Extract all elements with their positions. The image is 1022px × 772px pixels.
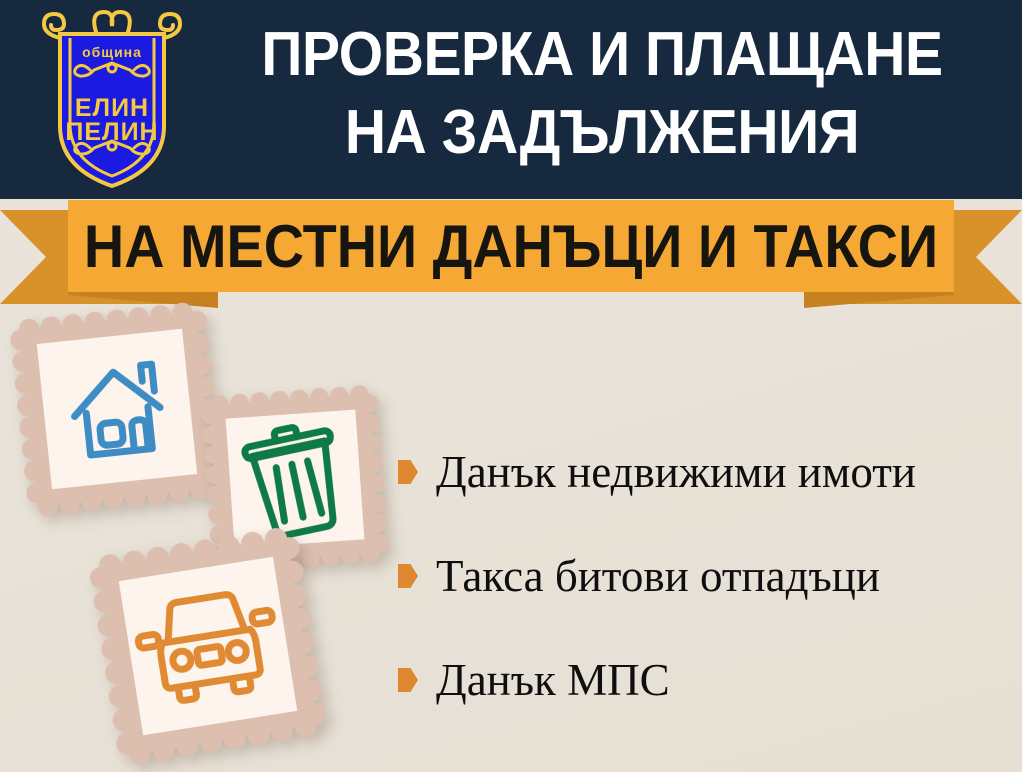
list-item-label: Данък МПС bbox=[436, 658, 670, 703]
page-title-line-1: ПРОВЕРКА И ПЛАЩАНЕ bbox=[228, 16, 975, 94]
poster-header: община ЕЛИН ПЕЛИН ПРОВЕРКА И ПЛАЩАНЕ НА … bbox=[0, 0, 1022, 199]
page-title-line-2: НА ЗАДЪЛЖЕНИЯ bbox=[228, 94, 975, 172]
arrow-bullet-icon bbox=[398, 564, 418, 588]
stamp-collage bbox=[0, 300, 420, 772]
stamp-card-house bbox=[8, 300, 226, 518]
ribbon-label: НА МЕСТНИ ДАНЪЦИ И ТАКСИ bbox=[99, 200, 923, 292]
list-item-label: Данък недвижими имоти bbox=[436, 450, 916, 495]
list-item[interactable]: Такса битови отпадъци bbox=[398, 524, 1018, 628]
stamp-frame-scallop bbox=[87, 525, 330, 768]
list-item[interactable]: Данък МПС bbox=[398, 628, 1018, 732]
subtitle-ribbon: НА МЕСТНИ ДАНЪЦИ И ТАКСИ bbox=[0, 196, 1022, 312]
list-item-label: Такса битови отпадъци bbox=[436, 554, 880, 599]
arrow-bullet-icon bbox=[398, 668, 418, 692]
stamp-frame-scallop bbox=[8, 300, 226, 518]
municipality-logo: община ЕЛИН ПЕЛИН bbox=[38, 8, 186, 193]
page-title: ПРОВЕРКА И ПЛАЩАНЕ НА ЗАДЪЛЖЕНИЯ bbox=[228, 16, 975, 172]
obligations-list: Данък недвижими имоти Такса битови отпад… bbox=[398, 420, 1018, 732]
stamp-card-car bbox=[87, 525, 330, 768]
poster-root: община ЕЛИН ПЕЛИН ПРОВЕРКА И ПЛАЩАНЕ НА … bbox=[0, 0, 1022, 772]
list-item[interactable]: Данък недвижими имоти bbox=[398, 420, 1018, 524]
coat-of-arms-icon bbox=[38, 8, 186, 193]
arrow-bullet-icon bbox=[398, 460, 418, 484]
